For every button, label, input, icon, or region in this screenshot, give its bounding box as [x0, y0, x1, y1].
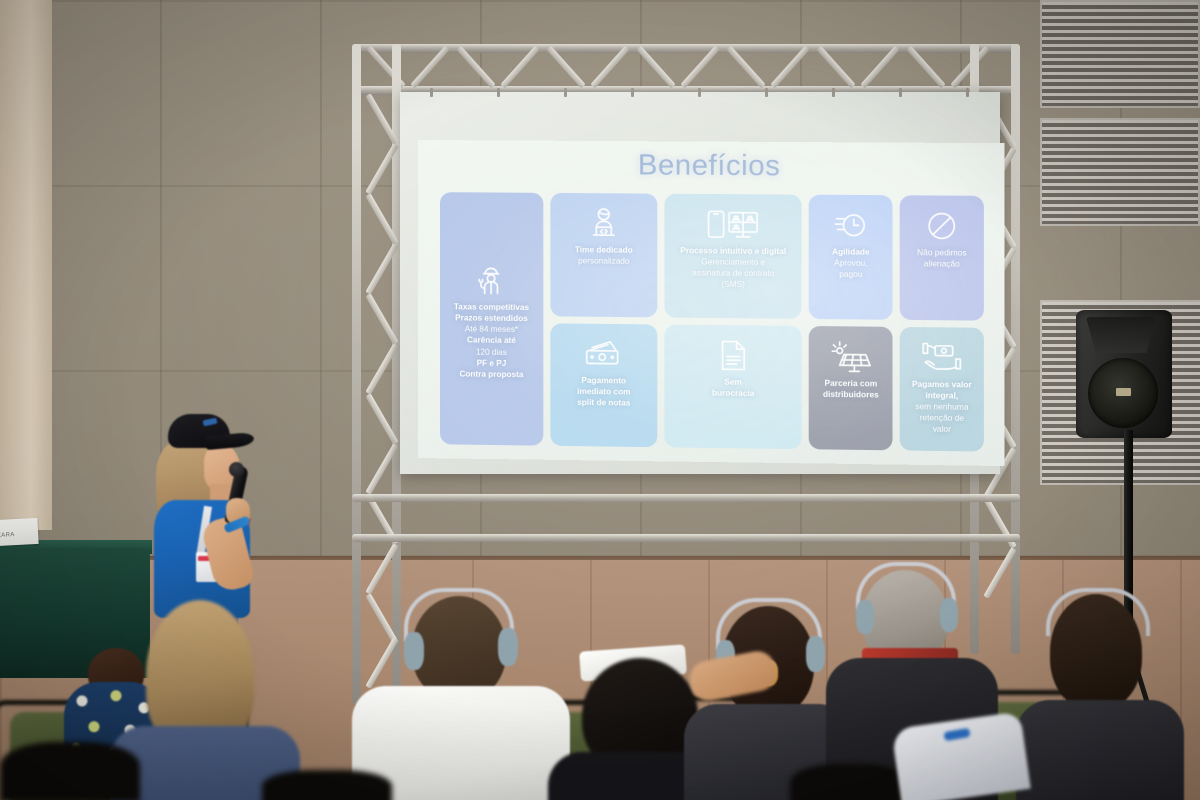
- benefit-card-line: personalizado: [575, 255, 633, 267]
- benefit-card-processo-intuitivo: Processo intuitivo e digitalGerenciament…: [665, 194, 802, 319]
- benefit-card-line: Pagamento: [577, 374, 630, 386]
- benefit-card-time-dedicado: Time dedicadopersonalizado: [550, 193, 658, 317]
- headphone-cup: [498, 628, 518, 666]
- truss-mid-brace-lower: [352, 534, 1020, 542]
- benefit-card-line: burocracia: [712, 387, 755, 399]
- document-icon: [714, 338, 753, 373]
- table-name-card-text: ZARA: [0, 532, 15, 539]
- benefit-card-line: Taxas competitivas: [454, 302, 529, 314]
- benefit-card-sem-burocracia: Semburocracia: [665, 324, 802, 449]
- screen-clip: [430, 88, 433, 97]
- fast-clock-icon: [831, 208, 870, 243]
- benefit-card-line: Não pedimos: [917, 247, 967, 259]
- foreground-silhouette: [262, 770, 392, 800]
- screen-clip: [564, 88, 567, 97]
- screen-clip: [698, 88, 701, 97]
- benefit-card-line: PF e PJ: [454, 357, 529, 369]
- screen-clip: [966, 88, 969, 97]
- benefit-card-line: assinatura de contrato: [680, 267, 786, 279]
- benefit-card-line: sem nenhuma retenção de: [907, 401, 977, 424]
- headphone-cup: [404, 632, 424, 670]
- truss-mid-brace-upper: [352, 494, 1020, 502]
- table-name-card: ZARA: [0, 518, 39, 546]
- benefit-card-line: distribuidores: [823, 388, 879, 400]
- benefit-card-line: pagou: [832, 269, 870, 281]
- slide-surface: Benefícios Time dedicadopersonalizadoTax…: [418, 140, 1004, 466]
- benefit-card-text: Parceria comdistribuidores: [820, 377, 882, 400]
- benefit-card-line: Agilidade: [832, 246, 870, 258]
- benefit-card-line: Parceria com: [823, 377, 879, 389]
- benefit-card-line: Sem: [712, 376, 755, 388]
- foreground-silhouette: [790, 764, 910, 800]
- benefit-card-line: Pagamos valor integral,: [907, 378, 977, 401]
- benefit-card-line: (SMS): [680, 279, 786, 291]
- benefit-card-line: Prazos estendidos: [454, 313, 529, 325]
- screen-clip: [899, 88, 902, 97]
- benefit-card-line: Processo intuitivo e digital: [680, 245, 786, 257]
- person-laptop-code-icon: [585, 206, 623, 240]
- hands-money-exchange-icon: [918, 340, 965, 375]
- truss-left-post-outer: [352, 44, 361, 704]
- pa-speaker: [1076, 310, 1172, 438]
- benefit-card-line: Aprovou,: [832, 258, 870, 270]
- benefit-card-line: Gerenciamento e: [680, 256, 786, 268]
- truss-top-chord-upper: [352, 44, 1020, 53]
- phone-monitor-video-icon: [702, 207, 765, 242]
- benefit-card-text: Taxas competitivasPrazos estendidosAté 8…: [451, 302, 532, 380]
- benefit-card-text: Pagamos valor integral,sem nenhuma reten…: [904, 378, 980, 435]
- benefit-card-line: Até 84 meses*: [454, 324, 529, 336]
- benefit-card-line: Contra proposta: [454, 368, 529, 380]
- headphone-cup: [940, 598, 958, 632]
- benefit-card-line: Time dedicado: [575, 244, 633, 256]
- benefit-card-line: split de notas: [577, 397, 630, 409]
- benefit-card-taxas-competitivas: Taxas competitivasPrazos estendidosAté 8…: [440, 192, 543, 446]
- wall-left-pillar: [0, 0, 52, 530]
- benefit-card-text: Processo intuitivo e digitalGerenciament…: [677, 245, 789, 291]
- banknotes-icon: [585, 336, 623, 371]
- engineer-plug-icon: [472, 264, 510, 298]
- pa-speaker-horn: [1086, 317, 1156, 353]
- benefit-card-nao-pedimos-alienacao: Não pedimosalienação: [900, 195, 984, 320]
- benefit-card-text: Pagamentoimediato comsplit de notas: [574, 374, 633, 408]
- foreground-silhouette: [0, 742, 140, 800]
- benefit-card-pagamento-imediato: Pagamentoimediato comsplit de notas: [550, 323, 658, 447]
- slide-title: Benefícios: [418, 148, 1004, 185]
- benefit-card-text: AgilidadeAprovou,pagou: [829, 246, 873, 280]
- presenter-cap-brim: [205, 432, 254, 450]
- screen-clip: [631, 88, 634, 97]
- benefit-card-line: imediato com: [577, 385, 630, 397]
- benefit-card-line: 120 dias: [454, 346, 529, 358]
- benefit-card-text: Não pedimosalienação: [914, 247, 970, 270]
- screen-clip: [832, 88, 835, 97]
- benefit-card-line: alienação: [917, 258, 967, 270]
- screen-clip: [497, 88, 500, 97]
- headphone-cup: [856, 600, 874, 634]
- screen-clip: [765, 88, 768, 97]
- headphone-cup: [806, 636, 825, 672]
- wall-vent-top: [1040, 0, 1200, 108]
- benefit-card-line: valor: [907, 423, 977, 435]
- prohibited-circle-icon: [922, 209, 961, 244]
- benefit-card-pagamos-valor-integral: Pagamos valor integral,sem nenhuma reten…: [900, 326, 984, 451]
- benefit-card-line: Carência até: [454, 335, 529, 347]
- pa-speaker-badge: [1116, 388, 1131, 396]
- torso: [1016, 700, 1184, 800]
- benefit-card-parceria-distribuidores: Parceria comdistribuidores: [809, 325, 893, 450]
- wall-vent-second: [1040, 118, 1200, 226]
- benefit-card-text: Time dedicadopersonalizado: [572, 244, 636, 267]
- solar-panel-sun-icon: [828, 339, 873, 374]
- benefit-card-agilidade: AgilidadeAprovou,pagou: [809, 195, 893, 320]
- benefit-card-text: Semburocracia: [709, 376, 758, 399]
- presentation-photo-scene: Benefícios Time dedicadopersonalizadoTax…: [0, 0, 1200, 800]
- benefits-card-grid: Time dedicadopersonalizadoTaxas competit…: [440, 192, 984, 451]
